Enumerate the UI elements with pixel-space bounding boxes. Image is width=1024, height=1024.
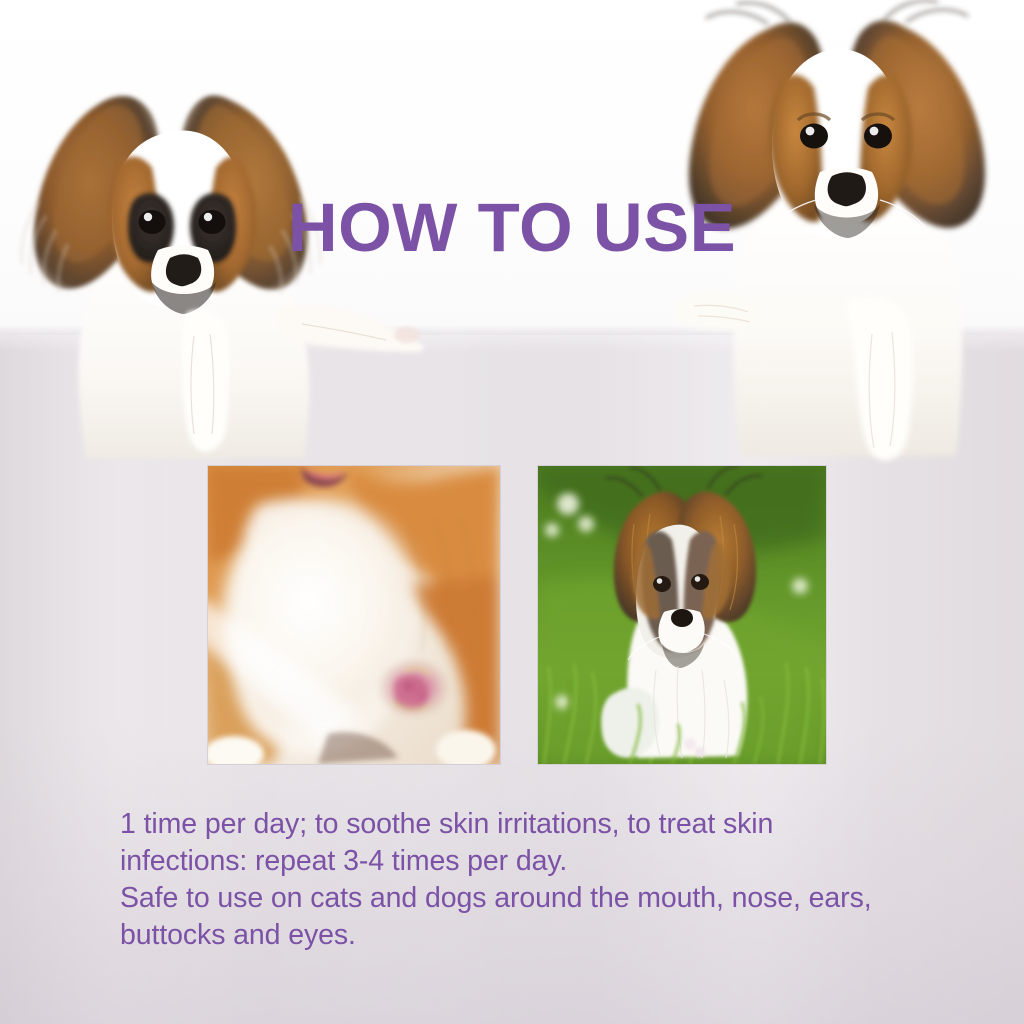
promo-banner: HOW TO USE: [0, 0, 1024, 1024]
photo-gallery: [208, 466, 848, 766]
instructions-line-4: buttocks and eyes.: [120, 917, 1000, 954]
page-title: HOW TO USE: [0, 192, 1024, 264]
photo-dog-in-grass[interactable]: [538, 466, 826, 764]
photo-skin-irritation[interactable]: [208, 466, 500, 764]
instructions-text: 1 time per day; to soothe skin irritatio…: [120, 806, 1000, 954]
instructions-line-3: Safe to use on cats and dogs around the …: [120, 880, 1000, 917]
instructions-line-2: infections: repeat 3-4 times per day.: [120, 843, 1000, 880]
instructions-line-1: 1 time per day; to soothe skin irritatio…: [120, 806, 1000, 843]
